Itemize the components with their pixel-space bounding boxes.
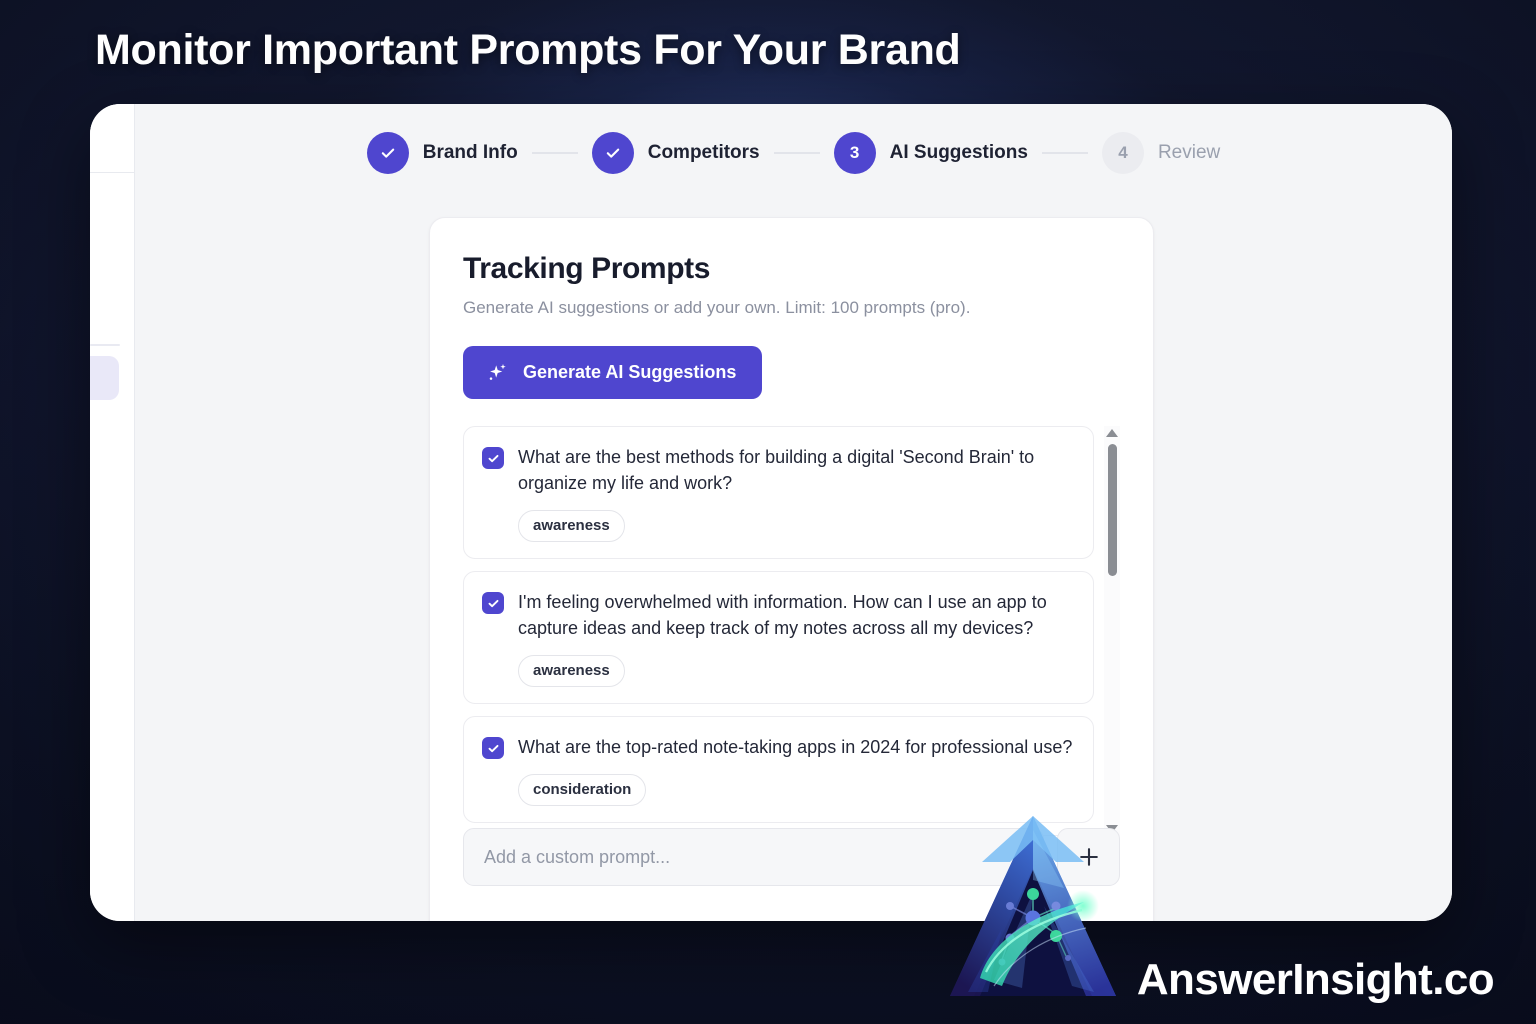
- step-2-bubble: [592, 132, 634, 174]
- step-3-bubble: 3: [834, 132, 876, 174]
- answerinsight-triangle-logo: [944, 810, 1122, 1006]
- step-review[interactable]: 4 Review: [1102, 132, 1220, 174]
- prompt-list-scrollbar[interactable]: [1104, 426, 1120, 836]
- step-4-label: Review: [1158, 142, 1220, 164]
- step-1-label: Brand Info: [423, 142, 518, 164]
- prompt-body: What are the best methods for building a…: [518, 444, 1075, 542]
- step-brand-info[interactable]: Brand Info: [367, 132, 518, 174]
- status-badge: awareness: [518, 510, 625, 542]
- prompt-text: What are the top-rated note-taking apps …: [518, 734, 1075, 760]
- generate-button-label: Generate AI Suggestions: [523, 362, 736, 383]
- prompt-checkbox[interactable]: [482, 737, 504, 759]
- check-icon: [486, 596, 501, 611]
- scrollbar-thumb[interactable]: [1108, 444, 1117, 576]
- step-connector-1: [532, 152, 578, 154]
- step-3-label: AI Suggestions: [890, 142, 1028, 164]
- check-icon: [378, 143, 398, 163]
- status-badge: consideration: [518, 774, 646, 806]
- page-headline: Monitor Important Prompts For Your Brand: [95, 26, 961, 75]
- step-4-bubble: 4: [1102, 132, 1144, 174]
- check-icon: [486, 741, 501, 756]
- prompt-checkbox[interactable]: [482, 592, 504, 614]
- brand-footer: AnswerInsight.co: [1137, 958, 1494, 1002]
- prompt-list: What are the best methods for building a…: [463, 426, 1094, 836]
- brand-wordmark: AnswerInsight.co: [1137, 958, 1494, 1002]
- prompt-body: I'm feeling overwhelmed with information…: [518, 589, 1075, 687]
- step-competitors[interactable]: Competitors: [592, 132, 760, 174]
- scrollbar-track[interactable]: [1104, 440, 1120, 822]
- step-2-label: Competitors: [648, 142, 760, 164]
- triangle-up-icon[interactable]: [1104, 426, 1120, 440]
- step-connector-2: [774, 152, 820, 154]
- app-window: Brand Info Competitors 3 AI Suggestions: [90, 104, 1452, 921]
- prompt-body: What are the top-rated note-taking apps …: [518, 734, 1075, 806]
- generate-ai-suggestions-button[interactable]: Generate AI Suggestions: [463, 346, 762, 399]
- prompt-list-item[interactable]: What are the best methods for building a…: [463, 426, 1094, 559]
- card-subtitle: Generate AI suggestions or add your own.…: [463, 298, 1120, 318]
- status-badge: awareness: [518, 655, 625, 687]
- card-title: Tracking Prompts: [463, 252, 1120, 286]
- sidebar-active-item[interactable]: [90, 356, 119, 400]
- prompt-checkbox[interactable]: [482, 447, 504, 469]
- stepper: Brand Info Competitors 3 AI Suggestions: [135, 132, 1452, 174]
- step-1-bubble: [367, 132, 409, 174]
- sidebar-sliver: [90, 104, 135, 921]
- prompt-text: I'm feeling overwhelmed with information…: [518, 589, 1075, 641]
- prompt-list-item[interactable]: What are the top-rated note-taking apps …: [463, 716, 1094, 823]
- sparkles-icon: [485, 361, 509, 385]
- prompt-text: What are the best methods for building a…: [518, 444, 1075, 496]
- step-connector-3: [1042, 152, 1088, 154]
- step-ai-suggestions[interactable]: 3 AI Suggestions: [834, 132, 1028, 174]
- prompt-list-item[interactable]: I'm feeling overwhelmed with information…: [463, 571, 1094, 704]
- check-icon: [486, 451, 501, 466]
- main-content: Brand Info Competitors 3 AI Suggestions: [135, 104, 1452, 921]
- sidebar-topbar-divider: [90, 172, 134, 173]
- prompt-list-region: What are the best methods for building a…: [463, 426, 1120, 836]
- sidebar-section-divider: [90, 344, 120, 346]
- check-icon: [603, 143, 623, 163]
